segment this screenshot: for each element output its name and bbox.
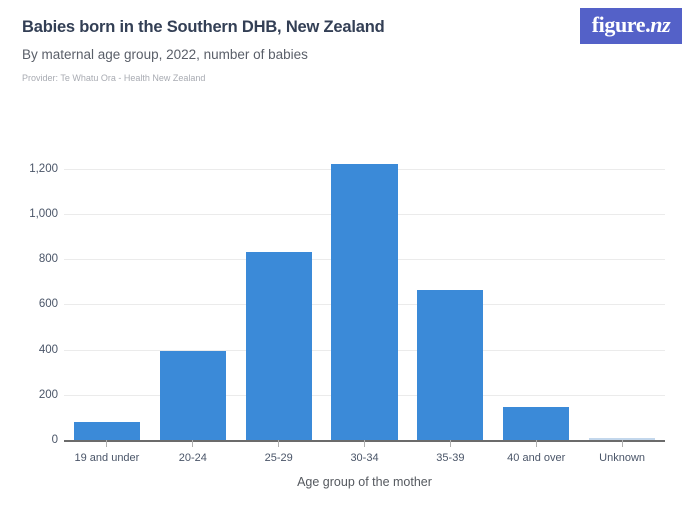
chart-page: Babies born in the Southern DHB, New Zea… [0,0,700,525]
y-axis-tick-label: 200 [6,389,58,401]
x-axis-title: Age group of the mother [64,475,665,489]
x-tick-slot [407,440,493,448]
bar[interactable] [74,422,140,440]
y-axis-tick-label: 1,000 [6,208,58,220]
bar-slot [236,146,322,440]
x-tick-slot [322,440,408,448]
x-tick-mark [192,440,193,447]
y-axis-tick-label: 0 [6,434,58,446]
x-tick-mark [536,440,537,447]
bar[interactable] [503,407,569,440]
bar-chart: 02004006008001,0001,200 19 and under20-2… [0,0,700,525]
x-axis-tick-labels: 19 and under20-2425-2930-3435-3940 and o… [64,452,665,464]
bar-series [64,146,665,440]
bar-slot [64,146,150,440]
bar[interactable] [331,164,397,440]
bar[interactable] [160,351,226,440]
x-tick-mark [278,440,279,447]
x-axis-tick-label: 20-24 [150,452,236,464]
x-axis-tick-label: Unknown [579,452,665,464]
x-axis-tick-label: 40 and over [493,452,579,464]
bar-slot [322,146,408,440]
x-axis-tick-label: 19 and under [64,452,150,464]
y-axis-tick-label: 600 [6,298,58,310]
y-axis-tick-labels: 02004006008001,0001,200 [0,0,58,525]
x-tick-slot [579,440,665,448]
bar[interactable] [246,252,312,440]
y-axis-tick-label: 800 [6,253,58,265]
bar[interactable] [417,290,483,440]
x-axis-tick-label: 35-39 [407,452,493,464]
x-tick-slot [150,440,236,448]
x-tick-slot [236,440,322,448]
y-axis-tick-label: 1,200 [6,163,58,175]
x-tick-mark [450,440,451,447]
x-tick-slot [493,440,579,448]
x-axis-tick-marks [64,440,665,448]
x-axis-tick-label: 30-34 [322,452,408,464]
x-tick-slot [64,440,150,448]
bar-slot [150,146,236,440]
bar-slot [407,146,493,440]
x-tick-mark [364,440,365,447]
y-axis-tick-label: 400 [6,344,58,356]
x-tick-mark [106,440,107,447]
x-axis-tick-label: 25-29 [236,452,322,464]
bar-slot [579,146,665,440]
x-tick-mark [622,440,623,447]
bar-slot [493,146,579,440]
